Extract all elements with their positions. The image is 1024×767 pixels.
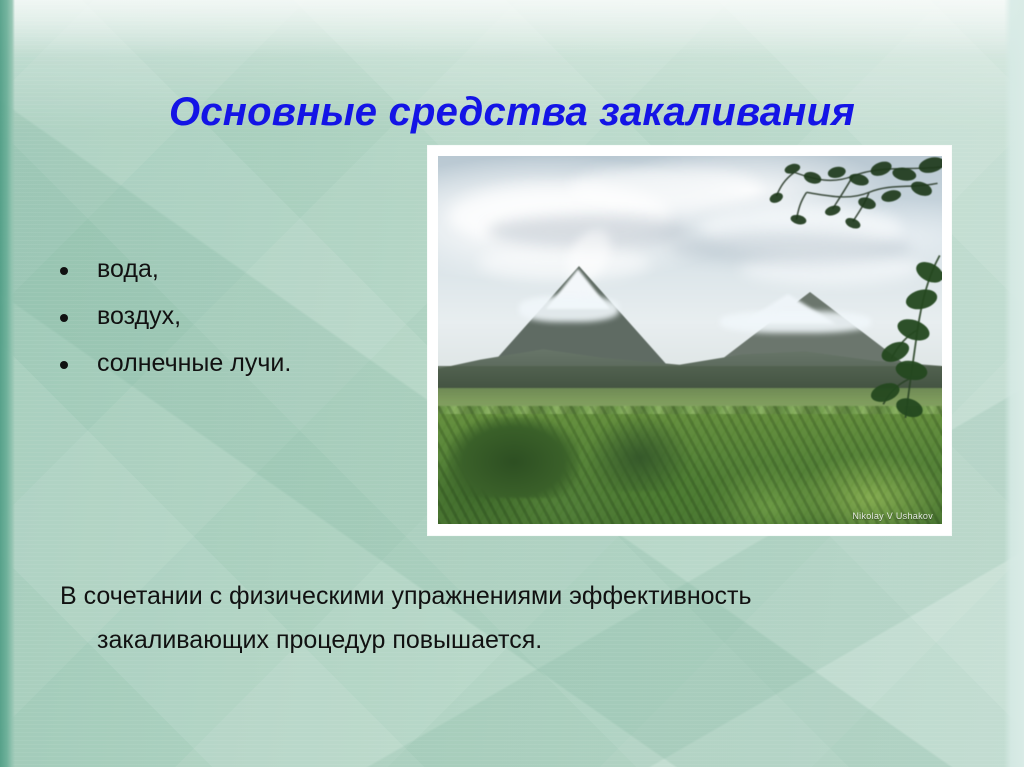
list-item-label: воздух, (97, 302, 181, 330)
bullet-dot-icon (60, 314, 68, 322)
bullet-list: вода, воздух, солнечные лучи. (52, 246, 412, 387)
list-item: вода, (52, 246, 412, 293)
photo-snowfield (519, 296, 620, 322)
bullet-dot-icon (60, 267, 68, 275)
photo-cloud (569, 167, 761, 211)
photo-cloud-shadow (670, 233, 912, 262)
bullet-dot-icon (60, 361, 68, 369)
slide-title: Основные средства закаливания (0, 89, 1024, 135)
photo-watermark: Nikolay V Ushakov (852, 511, 933, 521)
background-top-haze (0, 0, 1024, 58)
list-item: воздух, (52, 293, 412, 340)
photo-dark-tree (448, 417, 579, 498)
list-item: солнечные лучи. (52, 340, 412, 387)
list-item-label: солнечные лучи. (97, 349, 291, 377)
body-paragraph: В сочетании с физическими упражнениями э… (60, 574, 817, 662)
slide: Основные средства закаливания вода, возд… (0, 0, 1024, 767)
landscape-photo: Nikolay V Ushakov (438, 156, 942, 524)
list-item-label: вода, (97, 255, 159, 283)
photo-snowfield (720, 311, 871, 333)
photo-dark-tree (589, 417, 690, 491)
photo-frame: Nikolay V Ushakov (428, 146, 951, 535)
